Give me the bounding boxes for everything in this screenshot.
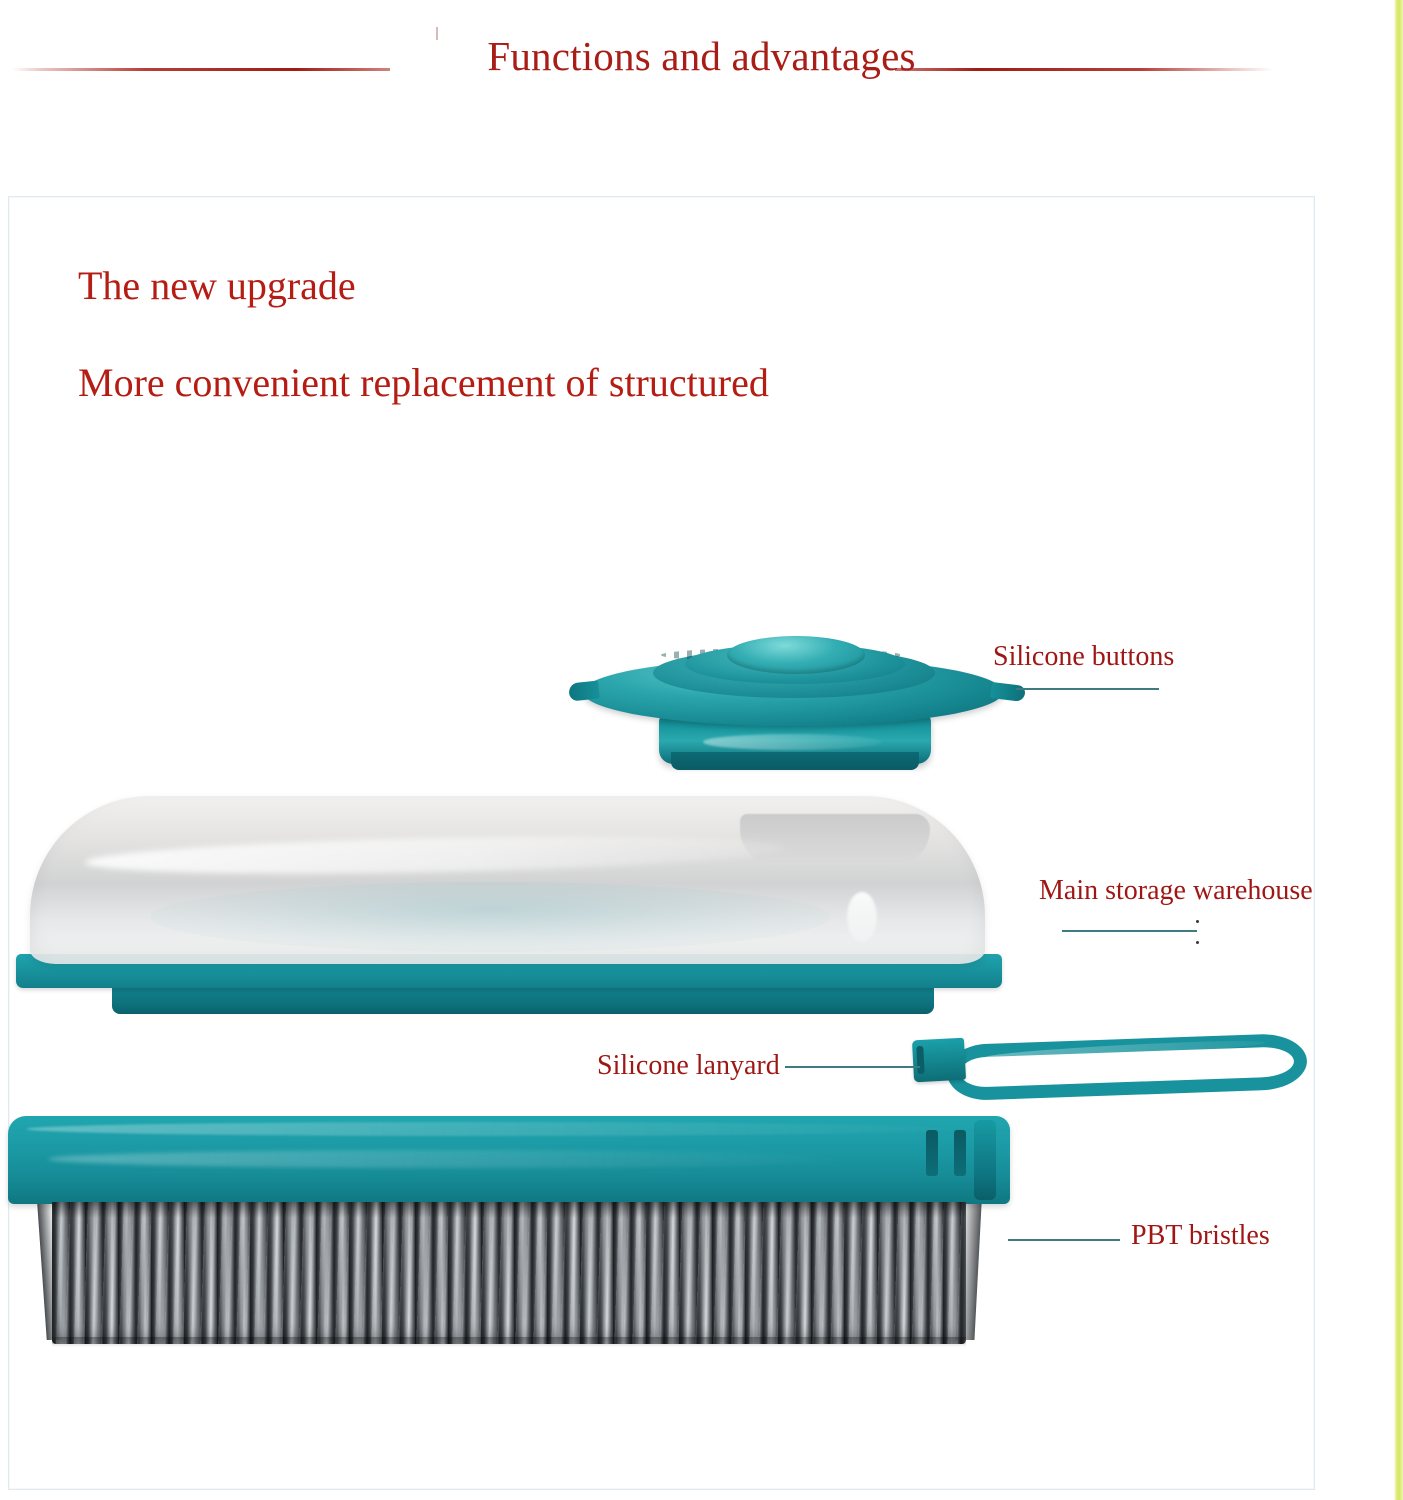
dome-highlight [85, 831, 786, 880]
bristle-root-shadow [52, 1202, 966, 1218]
brush-slot-right [954, 1130, 966, 1176]
callout-label-main-storage-warehouse: Main storage warehouse [1039, 877, 1313, 905]
product-part-main-storage-warehouse [8, 796, 1018, 1024]
brush-body-top-highlight [26, 1122, 956, 1136]
page-edge-stripe [1394, 0, 1403, 1500]
intro-heading-primary: The new upgrade [78, 266, 356, 306]
product-part-brush-head [8, 1116, 1018, 1346]
page-header: Functions and advantages [0, 0, 1403, 140]
cap-center-button [727, 636, 865, 674]
dome-rear-notch [740, 814, 930, 866]
callout-leader-main-storage-warehouse [1062, 930, 1197, 932]
brush-body [8, 1116, 1010, 1204]
bristle-tip-shadow [52, 1337, 966, 1347]
callout-leader-silicone-lanyard [785, 1066, 920, 1068]
cap-skirt-lower [671, 752, 919, 770]
page-title: Functions and advantages [0, 36, 1403, 77]
dome-inner-shadow [150, 882, 830, 952]
dome-edge-glow [847, 892, 877, 942]
callout-label-silicone-lanyard: Silicone lanyard [597, 1052, 780, 1080]
callout-leader-pbt-bristles [1008, 1239, 1120, 1241]
callout-label-silicone-buttons: Silicone buttons [993, 643, 1174, 671]
product-part-silicone-buttons [575, 636, 1020, 781]
intro-heading-secondary: More convenient replacement of structure… [78, 363, 769, 403]
callout-marker-dot-lower [1196, 941, 1199, 944]
callout-label-pbt-bristles: PBT bristles [1131, 1222, 1270, 1250]
pbt-bristle-field [52, 1202, 966, 1344]
brush-slot-left [926, 1130, 938, 1176]
callout-leader-silicone-buttons [1016, 688, 1159, 690]
callout-marker-dot-upper [1196, 920, 1199, 923]
storage-base-foot [112, 986, 934, 1014]
bristle-texture-overlay [52, 1202, 966, 1344]
storage-clear-dome [30, 796, 985, 964]
lanyard-clip [912, 1038, 966, 1083]
brush-body-sheen [48, 1150, 868, 1168]
brush-end-cap [974, 1120, 996, 1200]
product-part-silicone-lanyard [905, 1033, 1313, 1105]
